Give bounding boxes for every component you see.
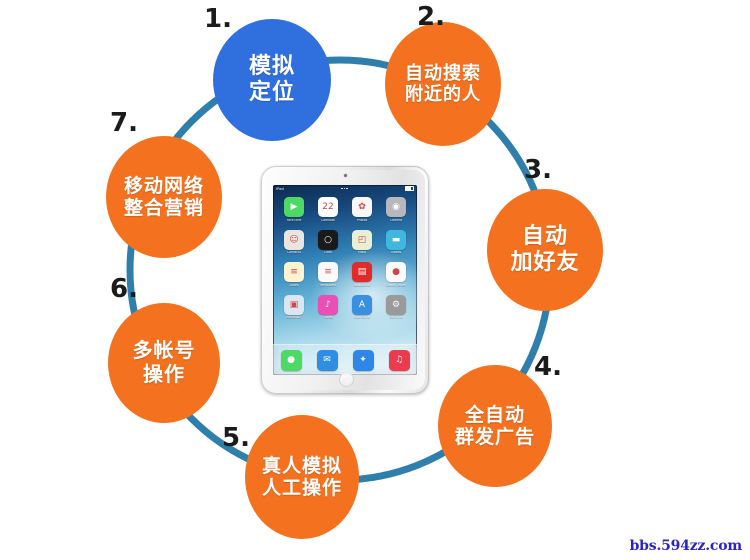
- bubble-label-line: 人工操作: [262, 477, 342, 499]
- battery-icon: [405, 186, 414, 191]
- bubble-label-line: 整合营销: [124, 197, 204, 219]
- step-number-4: 4.: [534, 354, 562, 380]
- app-label: Maps: [348, 251, 376, 254]
- calendar-icon[interactable]: 22: [318, 197, 338, 217]
- app-camera[interactable]: ◉Camera: [382, 197, 410, 222]
- videos-icon[interactable]: ▬: [386, 230, 406, 250]
- safari-icon[interactable]: ✦: [353, 350, 374, 371]
- bubble-label-line: 加好友: [510, 250, 579, 276]
- bubble-label-line: 定位: [249, 80, 295, 106]
- app-label: Reminders: [314, 284, 342, 287]
- app-gamecenter[interactable]: ●Game Center: [382, 262, 410, 287]
- app-itunes[interactable]: ♪iTunes: [314, 295, 342, 320]
- mail-icon[interactable]: ✉: [317, 350, 338, 371]
- app-label: Settings: [382, 316, 410, 319]
- contacts-icon[interactable]: ☺: [284, 230, 304, 250]
- notes-icon[interactable]: ≡: [284, 262, 304, 282]
- itunes-icon[interactable]: ♪: [318, 295, 338, 315]
- app-label: Game Center: [382, 284, 410, 287]
- step-bubble-6[interactable]: 多帐号操作: [108, 303, 220, 423]
- bubble-label-line: 自动搜索: [405, 63, 481, 84]
- app-messages[interactable]: ●: [281, 350, 302, 371]
- reminders-icon[interactable]: ≡: [318, 262, 338, 282]
- diagram-canvas: iPad ▶FaceTime22Calendar✿Photos◉Camera☺C…: [0, 0, 750, 560]
- home-screen-app-grid: ▶FaceTime22Calendar✿Photos◉Camera☺Contac…: [280, 197, 410, 319]
- facetime-icon[interactable]: ▶: [284, 197, 304, 217]
- newsstand-icon[interactable]: ▤: [352, 262, 372, 282]
- app-label: Settings2: [280, 316, 308, 319]
- bubble-label-line: 操作: [143, 363, 185, 387]
- bubble-label-line: 全自动: [465, 404, 525, 426]
- step-bubble-1[interactable]: 模拟定位: [213, 19, 331, 141]
- step-number-5: 5.: [222, 425, 250, 451]
- app-maps[interactable]: ◰Maps: [348, 230, 376, 255]
- app-label: iTunes: [314, 316, 342, 319]
- tablet-screen: iPad ▶FaceTime22Calendar✿Photos◉Camera☺C…: [273, 185, 417, 375]
- app-photos[interactable]: ✿Photos: [348, 197, 376, 222]
- watermark: bbs.594zz.com: [630, 538, 742, 554]
- wifi-icon: [341, 188, 348, 190]
- app-clock[interactable]: ○Clock: [314, 230, 342, 255]
- settings-icon[interactable]: ⚙: [386, 295, 406, 315]
- step-number-2: 2.: [417, 4, 445, 30]
- step-bubble-5[interactable]: 真人模拟人工操作: [245, 415, 359, 539]
- maps-icon[interactable]: ◰: [352, 230, 372, 250]
- step-number-3: 3.: [524, 157, 552, 183]
- photobooth-icon[interactable]: ▣: [284, 295, 304, 315]
- bubble-label-line: 移动网络: [124, 175, 204, 197]
- tablet-device: iPad ▶FaceTime22Calendar✿Photos◉Camera☺C…: [261, 166, 429, 394]
- app-videos[interactable]: ▬Videos: [382, 230, 410, 255]
- app-label: Contacts: [280, 251, 308, 254]
- step-bubble-7[interactable]: 移动网络整合营销: [106, 136, 222, 258]
- app-label: Camera: [382, 219, 410, 222]
- app-calendar[interactable]: 22Calendar: [314, 197, 342, 222]
- camera-icon[interactable]: ◉: [386, 197, 406, 217]
- status-bar: iPad: [273, 185, 417, 192]
- front-camera-icon: [344, 174, 347, 177]
- step-number-1: 1.: [204, 6, 232, 32]
- appstore-icon[interactable]: A: [352, 295, 372, 315]
- bubble-label-line: 真人模拟: [262, 455, 342, 477]
- app-mail[interactable]: ✉: [317, 350, 338, 371]
- bubble-label-line: 模拟: [249, 54, 295, 80]
- app-label: FaceTime: [280, 219, 308, 222]
- music-icon[interactable]: ♫: [389, 350, 410, 371]
- app-label: Clock: [314, 251, 342, 254]
- app-appstore[interactable]: AApp Store: [348, 295, 376, 320]
- step-bubble-4[interactable]: 全自动群发广告: [438, 365, 552, 487]
- bubble-label-line: 多帐号: [133, 339, 196, 363]
- app-settings[interactable]: ⚙Settings: [382, 295, 410, 320]
- app-contacts[interactable]: ☺Contacts: [280, 230, 308, 255]
- bubble-label-line: 自动: [522, 224, 568, 250]
- step-number-7: 7.: [110, 110, 138, 136]
- clock-icon[interactable]: ○: [318, 230, 338, 250]
- app-label: App Store: [348, 316, 376, 319]
- app-photobooth[interactable]: ▣Settings2: [280, 295, 308, 320]
- photos-icon[interactable]: ✿: [352, 197, 372, 217]
- step-bubble-2[interactable]: 自动搜索附近的人: [385, 22, 501, 146]
- app-label: Notes: [280, 284, 308, 287]
- app-label: Videos: [382, 251, 410, 254]
- bubble-label-line: 群发广告: [455, 426, 535, 448]
- status-bar-carrier: iPad: [276, 187, 284, 191]
- app-reminders[interactable]: ≡Reminders: [314, 262, 342, 287]
- app-facetime[interactable]: ▶FaceTime: [280, 197, 308, 222]
- step-number-6: 6.: [110, 276, 138, 302]
- app-safari[interactable]: ✦: [353, 350, 374, 371]
- app-notes[interactable]: ≡Notes: [280, 262, 308, 287]
- gamecenter-icon[interactable]: ●: [386, 262, 406, 282]
- app-label: Photos: [348, 219, 376, 222]
- messages-icon[interactable]: ●: [281, 350, 302, 371]
- bubble-label-line: 附近的人: [405, 84, 481, 105]
- app-music[interactable]: ♫: [389, 350, 410, 371]
- app-label: Calendar: [314, 219, 342, 222]
- app-label: Newsstand: [348, 284, 376, 287]
- step-bubble-3[interactable]: 自动加好友: [487, 189, 603, 311]
- home-screen-dock: ●✉✦♫: [273, 344, 417, 375]
- app-newsstand[interactable]: ▤Newsstand: [348, 262, 376, 287]
